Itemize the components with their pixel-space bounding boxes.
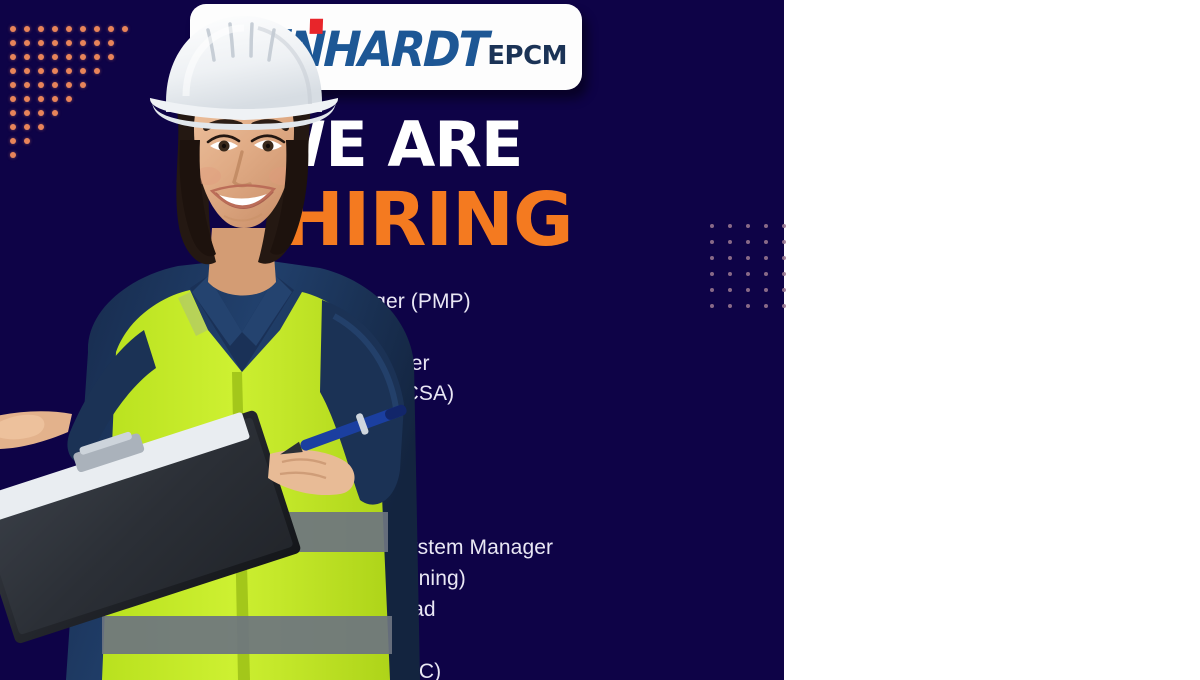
dot-row <box>710 304 800 320</box>
decorative-dot <box>782 288 786 292</box>
decorative-dot <box>764 240 768 244</box>
dot-row <box>710 256 800 272</box>
decorative-dot <box>728 288 732 292</box>
decorative-dot <box>710 240 714 244</box>
decorative-dot <box>782 256 786 260</box>
decorative-dot <box>728 240 732 244</box>
decorative-dot <box>728 272 732 276</box>
decorative-dot <box>782 304 786 308</box>
decorative-dot <box>782 224 786 228</box>
decorative-dot <box>710 304 714 308</box>
decorative-dot <box>782 272 786 276</box>
decorative-dot <box>746 304 750 308</box>
decorative-dot <box>710 224 714 228</box>
decorative-dot <box>728 304 732 308</box>
decorative-dot <box>710 256 714 260</box>
decorative-dot <box>764 272 768 276</box>
decorative-dot <box>764 288 768 292</box>
dot-row <box>710 240 800 256</box>
decorative-dot <box>728 224 732 228</box>
decorative-dot <box>746 272 750 276</box>
decorative-dot <box>728 256 732 260</box>
reflective-stripe-lower <box>102 616 392 654</box>
decorative-dot <box>710 288 714 292</box>
hiring-poster: MEiNHARDT EPCM WE ARE HIRING Senior Proj… <box>0 0 1200 680</box>
decorative-dot <box>746 288 750 292</box>
decorative-dot <box>746 256 750 260</box>
photo-backdrop <box>784 0 1200 680</box>
dot-grid-decoration <box>710 224 800 320</box>
decorative-dot <box>764 304 768 308</box>
dot-row <box>710 272 800 288</box>
decorative-dot <box>710 272 714 276</box>
decorative-dot <box>782 240 786 244</box>
hat-vent <box>251 24 252 56</box>
logo-suffix-epcm: EPCM <box>487 41 567 71</box>
decorative-dot <box>746 240 750 244</box>
decorative-dot <box>764 224 768 228</box>
dot-row <box>710 288 800 304</box>
decorative-dot <box>764 256 768 260</box>
construction-worker-photo <box>0 0 420 680</box>
decorative-dot <box>746 224 750 228</box>
dot-row <box>710 224 800 240</box>
